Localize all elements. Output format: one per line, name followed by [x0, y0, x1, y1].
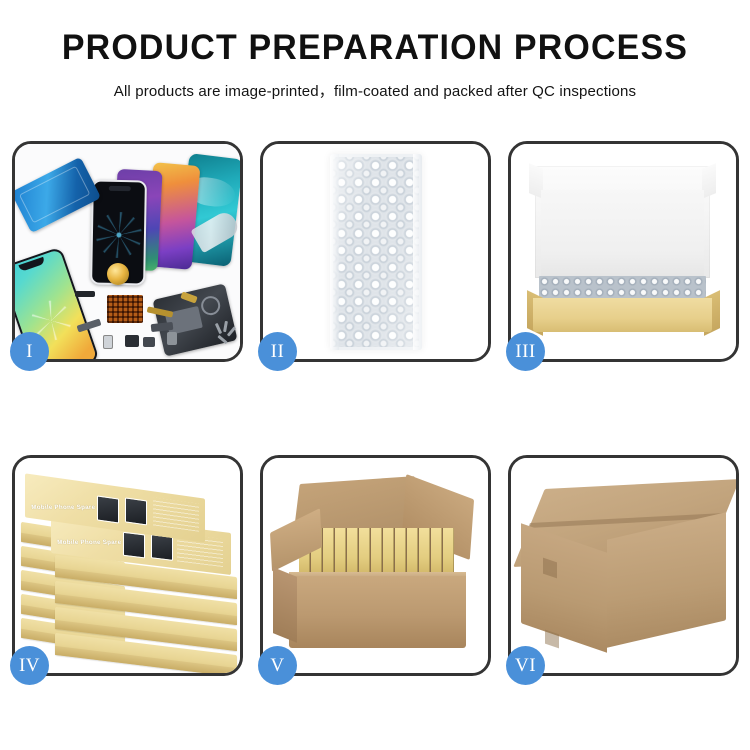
step-panel-6: VI [508, 455, 739, 676]
step-image-1 [15, 144, 240, 359]
camera-module-icon [125, 335, 139, 347]
stacked-retail-boxes-icon: Mobile Phone Spare Parts Mobile Phone Sp… [21, 472, 234, 665]
page-title: PRODUCT PREPARATION PROCESS [11, 30, 739, 65]
header: PRODUCT PREPARATION PROCESS All products… [0, 0, 750, 101]
step-image-4: Mobile Phone Spare Parts Mobile Phone Sp… [15, 458, 240, 673]
product-photo-screen [123, 532, 145, 559]
plastic-sheen [330, 154, 422, 350]
carton-left-face [273, 567, 297, 643]
product-photo-screen [125, 497, 147, 525]
step-panel-2: II [260, 141, 491, 362]
process-steps-grid: I II [12, 141, 739, 676]
step-badge-2: II [258, 332, 297, 371]
step-image-6 [511, 458, 736, 673]
step-panel-4: Mobile Phone Spare Parts Mobile Phone Sp… [12, 455, 243, 676]
product-photo-screen [151, 534, 173, 561]
spec-text-lines [153, 497, 199, 531]
phone-notch-icon [108, 186, 130, 191]
step-badge-1: I [10, 332, 49, 371]
copper-contact-grid-icon [107, 295, 143, 323]
product-preparation-infographic: PRODUCT PREPARATION PROCESS All products… [0, 0, 750, 750]
box-front-panel [533, 298, 712, 332]
sim-tray-icon [167, 332, 177, 345]
step-panel-1: I [12, 141, 243, 362]
speaker-coil-icon [107, 263, 129, 285]
phone-notch-icon [18, 257, 45, 272]
step-image-5 [263, 458, 488, 673]
battery-connector-icon [75, 291, 95, 297]
carton-front-face [289, 576, 466, 648]
screws-icon [216, 321, 236, 347]
page-subtitle: All products are image-printed，film-coat… [4, 79, 747, 101]
step-badge-5: V [258, 646, 297, 685]
step-panel-5: V [260, 455, 491, 676]
ic-chip-icon [143, 337, 155, 347]
box-inner-wall [541, 190, 704, 282]
step-image-2 [263, 144, 488, 359]
product-photo-screen [97, 495, 119, 523]
step-badge-6: VI [506, 646, 545, 685]
step-image-3 [511, 144, 736, 359]
step-panel-3: III [508, 141, 739, 362]
open-shipping-carton-icon [271, 476, 480, 659]
sealed-shipping-carton-icon [521, 482, 726, 653]
small-part-icon [103, 335, 113, 349]
open-inner-box-icon [527, 160, 720, 335]
step-badge-4: IV [10, 646, 49, 685]
step-badge-3: III [506, 332, 545, 371]
screen-crack-icon [95, 211, 142, 258]
bubble-wrapped-item-icon [330, 154, 422, 350]
